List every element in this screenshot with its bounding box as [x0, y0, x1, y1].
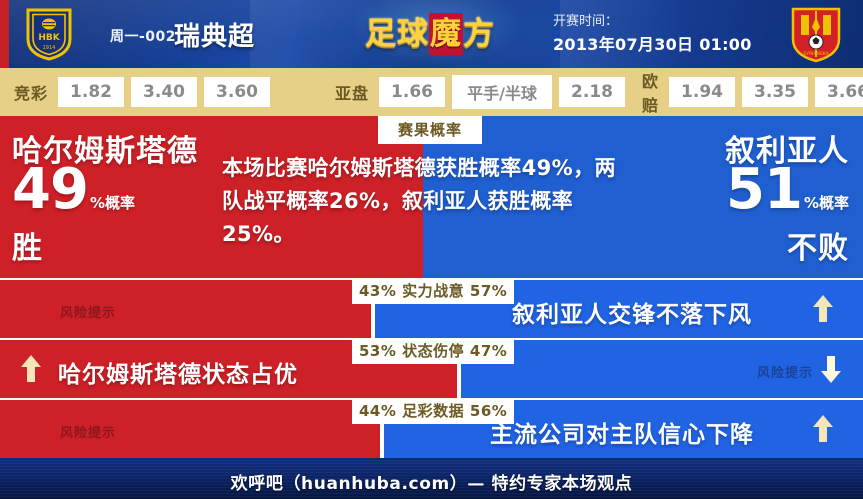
- odds-group-oupei: 欧赔 1.94 3.35 3.66: [642, 68, 863, 116]
- row-bar-home: [0, 400, 380, 458]
- row-label: 实力战意: [402, 282, 464, 300]
- risk-warning-left: 风险提示: [60, 422, 116, 441]
- home-probability-value: 49%概率: [12, 164, 135, 229]
- row-tag-strength: 43% 实力战意 57%: [352, 279, 514, 304]
- kickoff-label: 开赛时间：: [553, 10, 753, 29]
- comparison-row-betting: 44% 足彩数据 56% 风险提示 主流公司对主队信心下降: [0, 400, 863, 458]
- odds-group-jingcai: 竞彩 1.82 3.40 3.60: [14, 68, 270, 116]
- header-diagonal-1: [250, 0, 370, 68]
- comparison-row-form: 53% 状态伤停 47% 哈尔姆斯塔德状态占优 风险提示: [0, 340, 863, 398]
- away-team-crest-icon: SYRIANSKA: [787, 5, 845, 63]
- odds-bar: 竞彩 1.82 3.40 3.60 亚盘 1.66 平手/半球 2.18 欧赔 …: [0, 68, 863, 116]
- odds-cell[interactable]: 1.82: [58, 77, 124, 107]
- odds-group-label: 欧赔: [642, 68, 659, 116]
- odds-cell-handicap[interactable]: 平手/半球: [452, 75, 552, 109]
- away-probability-value: 51%概率: [726, 164, 849, 229]
- row-label: 足彩数据: [402, 402, 464, 420]
- row-message-away: 主流公司对主队信心下降: [490, 415, 754, 449]
- site-logo: 足球魔方: [365, 13, 495, 55]
- away-probability-unit: %概率: [804, 194, 849, 212]
- home-probability-number: 49: [12, 157, 88, 222]
- odds-group-yapan: 亚盘 1.66 平手/半球 2.18: [335, 68, 625, 116]
- match-number: 周一-002: [110, 26, 176, 46]
- arrow-up-icon: [812, 294, 834, 324]
- arrow-down-icon: [820, 354, 842, 384]
- match-preview-infographic: HBK 1914 周一-002 瑞典超 足球魔方 开赛时间： 2013年07月3…: [0, 0, 863, 499]
- logo-part-3: 方: [463, 16, 495, 52]
- probability-summary-text: 本场比赛哈尔姆斯塔德获胜概率49%，两队战平概率26%，叙利亚人获胜概率25%。: [222, 152, 616, 251]
- result-probability-panel: 哈尔姆斯塔德 49%概率 胜 叙利亚人 51%概率 不败 赛果概率 本场比赛哈尔…: [0, 116, 863, 278]
- odds-cell[interactable]: 3.35: [742, 77, 808, 107]
- row-right-percent: 57%: [470, 282, 507, 300]
- odds-cell[interactable]: 1.94: [669, 77, 735, 107]
- away-outcome-label: 不败: [787, 223, 849, 267]
- odds-cell[interactable]: 2.18: [559, 77, 625, 107]
- odds-group-label: 竞彩: [14, 80, 48, 104]
- odds-group-label: 亚盘: [335, 80, 369, 104]
- odds-cell[interactable]: 3.66: [815, 77, 863, 107]
- row-right-percent: 47%: [470, 342, 507, 360]
- svg-text:HBK: HBK: [38, 33, 60, 43]
- arrow-up-icon: [812, 414, 834, 444]
- svg-text:SYRIANSKA: SYRIANSKA: [803, 51, 829, 57]
- header: HBK 1914 周一-002 瑞典超 足球魔方 开赛时间： 2013年07月3…: [0, 0, 863, 68]
- kickoff-time: 2013年07月30日 01:00: [553, 31, 753, 55]
- footer: 欢呼吧（huanhuba.com）— 特约专家本场观点: [0, 460, 863, 499]
- risk-warning-right: 风险提示: [757, 362, 813, 381]
- row-left-percent: 44%: [359, 402, 396, 420]
- row-bar-home: [0, 280, 371, 338]
- away-probability-number: 51: [726, 157, 802, 222]
- row-tag-form: 53% 状态伤停 47%: [352, 339, 514, 364]
- row-left-percent: 43%: [359, 282, 396, 300]
- comparison-row-strength: 43% 实力战意 57% 风险提示 叙利亚人交锋不落下风: [0, 280, 863, 338]
- row-message-home: 哈尔姆斯塔德状态占优: [58, 355, 298, 389]
- odds-cell[interactable]: 1.66: [379, 77, 445, 107]
- home-probability-unit: %概率: [90, 194, 135, 212]
- odds-cell[interactable]: 3.40: [131, 77, 197, 107]
- home-outcome-label: 胜: [12, 223, 43, 267]
- league-name: 瑞典超: [174, 16, 255, 53]
- row-left-percent: 53%: [359, 342, 396, 360]
- logo-part-2: 魔: [429, 13, 463, 55]
- row-message-away: 叙利亚人交锋不落下风: [512, 295, 752, 329]
- svg-text:1914: 1914: [43, 45, 56, 51]
- footer-credit: 欢呼吧（huanhuba.com）— 特约专家本场观点: [0, 469, 863, 494]
- row-right-percent: 56%: [470, 402, 507, 420]
- logo-part-1: 足球: [365, 16, 429, 52]
- result-probability-tag: 赛果概率: [378, 116, 482, 144]
- header-red-stripe: [0, 0, 9, 68]
- arrow-up-icon: [20, 354, 42, 384]
- odds-cell[interactable]: 3.60: [204, 77, 270, 107]
- row-label: 状态伤停: [402, 342, 464, 360]
- risk-warning-left: 风险提示: [60, 302, 116, 321]
- home-team-crest-icon: HBK 1914: [20, 6, 78, 62]
- row-tag-betting: 44% 足彩数据 56%: [352, 399, 514, 424]
